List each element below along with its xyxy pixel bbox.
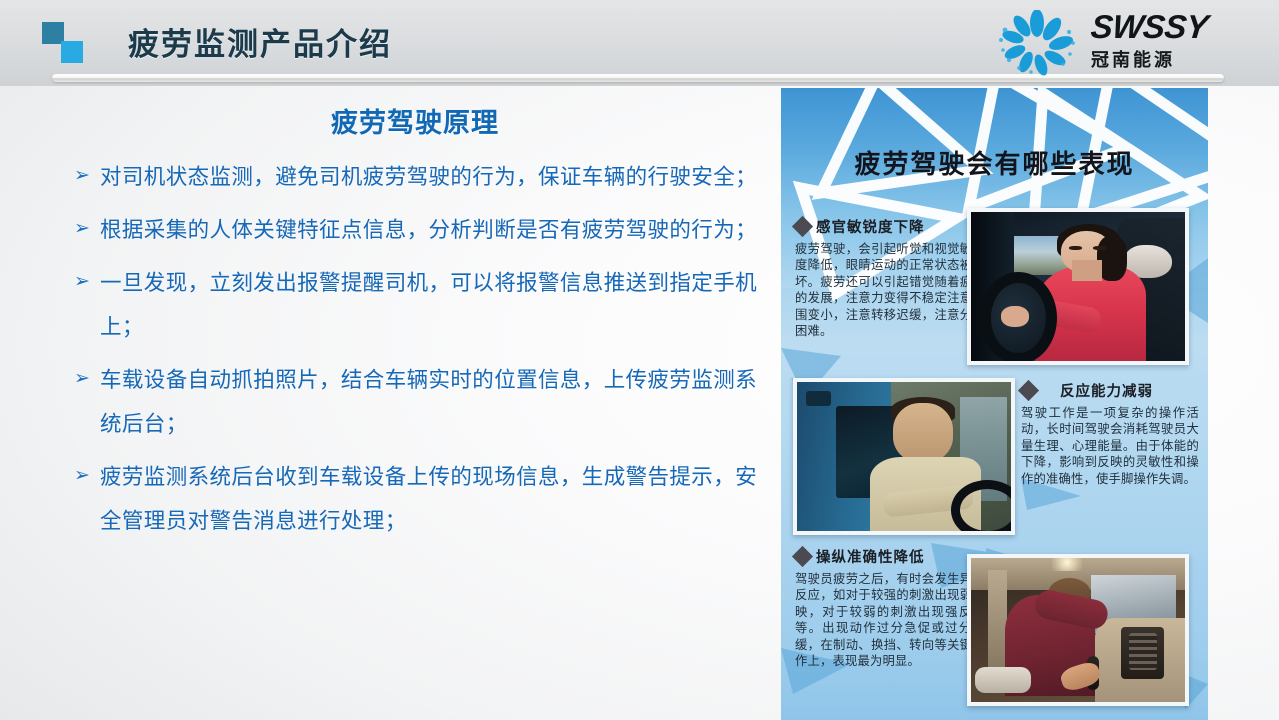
infographic-section: 感官敏锐度下降 疲劳驾驶，会引起听觉和视觉敏锐度降低，眼睛运动的正常状态被破坏。… bbox=[795, 216, 985, 339]
section-body-text: 驾驶工作是一项复杂的操作活动，长时间驾驶会消耗驾驶员大量生理、心理能量。由于体能… bbox=[1021, 405, 1199, 487]
list-item: ➢ 疲劳监测系统后台收到车载设备上传的现场信息，生成警告提示，安全管理员对警告消… bbox=[74, 455, 774, 543]
section-title-text: 反应能力减弱 bbox=[1060, 380, 1153, 401]
decorative-square-light bbox=[61, 41, 83, 63]
diamond-bullet-icon bbox=[1018, 380, 1039, 401]
arrow-bullet-icon: ➢ bbox=[74, 358, 100, 400]
section-title-text: 感官敏锐度下降 bbox=[816, 216, 925, 237]
infographic-section: 操纵准确性降低 驾驶员疲劳之后，有时会发生异常反应，如对于较强的刺激出现弱反映，… bbox=[795, 546, 985, 669]
section-header: 感官敏锐度下降 bbox=[795, 216, 985, 237]
diamond-bullet-icon bbox=[792, 216, 813, 237]
list-item-text: 疲劳监测系统后台收到车载设备上传的现场信息，生成警告提示，安全管理员对警告消息进… bbox=[100, 455, 774, 543]
slide: 疲劳监测产品介绍 bbox=[0, 0, 1279, 720]
arrow-bullet-icon: ➢ bbox=[74, 208, 100, 250]
section-photo-truck-driver bbox=[793, 378, 1015, 535]
logo-brand-subtitle: 冠南能源 bbox=[1091, 46, 1259, 72]
list-item-text: 车载设备自动抓拍照片，结合车辆实时的位置信息，上传疲劳监测系统后台； bbox=[100, 358, 774, 446]
infographic-title: 疲劳驾驶会有哪些表现 bbox=[781, 144, 1208, 181]
water-droplet-flower-icon bbox=[991, 10, 1083, 76]
infographic-panel: 疲劳驾驶会有哪些表现 感官敏锐度下降 疲劳驾驶，会引起听觉和视觉敏锐度降低，眼睛… bbox=[781, 88, 1208, 720]
section-photo-sleeping-driver bbox=[967, 554, 1189, 706]
section-photo-tired-woman-driver bbox=[967, 208, 1189, 365]
section-body-text: 驾驶员疲劳之后，有时会发生异常反应，如对于较强的刺激出现弱反映，对于较弱的刺激出… bbox=[795, 571, 985, 669]
arrow-bullet-icon: ➢ bbox=[74, 155, 100, 197]
list-item-text: 对司机状态监测，避免司机疲劳驾驶的行为，保证车辆的行驶安全； bbox=[100, 155, 774, 199]
arrow-bullet-icon: ➢ bbox=[74, 261, 100, 303]
arrow-bullet-icon: ➢ bbox=[74, 455, 100, 497]
section-title-text: 操纵准确性降低 bbox=[816, 546, 925, 567]
infographic-section: 反应能力减弱 驾驶工作是一项复杂的操作活动，长时间驾驶会消耗驾驶员大量生理、心理… bbox=[1021, 380, 1199, 487]
section-title: 疲劳驾驶原理 bbox=[60, 101, 770, 140]
logo-brand-name: SWSSY bbox=[1089, 10, 1261, 44]
section-body-text: 疲劳驾驶，会引起听觉和视觉敏锐度降低，眼睛运动的正常状态被破坏。疲劳还可以引起错… bbox=[795, 241, 985, 339]
section-header: 操纵准确性降低 bbox=[795, 546, 985, 567]
list-item: ➢ 一旦发现，立刻发出报警提醒司机，可以将报警信息推送到指定手机上； bbox=[74, 261, 774, 349]
bullet-list: ➢ 对司机状态监测，避免司机疲劳驾驶的行为，保证车辆的行驶安全； ➢ 根据采集的… bbox=[74, 155, 774, 552]
list-item: ➢ 对司机状态监测，避免司机疲劳驾驶的行为，保证车辆的行驶安全； bbox=[74, 155, 774, 199]
company-logo: SWSSY 冠南能源 bbox=[991, 8, 1261, 78]
list-item-text: 一旦发现，立刻发出报警提醒司机，可以将报警信息推送到指定手机上； bbox=[100, 261, 774, 349]
slide-header: 疲劳监测产品介绍 bbox=[0, 0, 1279, 86]
page-title: 疲劳监测产品介绍 bbox=[128, 19, 392, 64]
logo-text-block: SWSSY 冠南能源 bbox=[1091, 10, 1259, 72]
section-header: 反应能力减弱 bbox=[1021, 380, 1199, 401]
list-item: ➢ 车载设备自动抓拍照片，结合车辆实时的位置信息，上传疲劳监测系统后台； bbox=[74, 358, 774, 446]
list-item-text: 根据采集的人体关键特征点信息，分析判断是否有疲劳驾驶的行为； bbox=[100, 208, 774, 252]
header-decoration-squares bbox=[42, 22, 98, 70]
list-item: ➢ 根据采集的人体关键特征点信息，分析判断是否有疲劳驾驶的行为； bbox=[74, 208, 774, 252]
diamond-bullet-icon bbox=[792, 546, 813, 567]
